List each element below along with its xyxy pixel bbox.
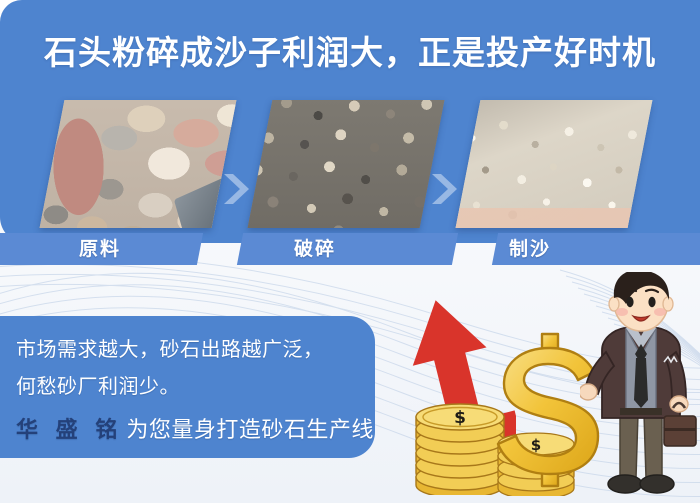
raw-material-photo <box>40 100 237 228</box>
copy-line-1: 市场需求越大，砂石出路越广泛， <box>16 333 324 362</box>
promo-banner: 石头粉碎成沙子利润大，正是投产好时机 原料 破碎 制沙 <box>0 0 700 503</box>
crushing-photo <box>248 100 445 228</box>
page-title: 石头粉碎成沙子利润大，正是投产好时机 <box>0 26 700 74</box>
process-image-raw-material <box>40 100 237 228</box>
brand-tagline-line: 华 盛 铭为您量身打造砂石生产线 <box>16 412 374 444</box>
svg-text:$: $ <box>454 408 466 428</box>
step-label-crushing: 破碎 <box>255 234 375 266</box>
sand-making-photo <box>456 100 653 228</box>
copy-line-2: 何愁砂厂利润少。 <box>16 370 180 399</box>
step-label-raw-material: 原料 <box>40 234 160 266</box>
brand-name: 华 盛 铭 <box>16 418 122 443</box>
step-label-sand-making: 制沙 <box>470 234 590 266</box>
hand-shape <box>456 208 653 228</box>
chevron-right-icon <box>430 172 460 206</box>
chevron-right-icon <box>222 172 252 206</box>
process-image-crushing <box>248 100 445 228</box>
process-image-sand-making <box>456 100 653 228</box>
businessman-with-briefcase-icon <box>580 272 700 503</box>
tagline-text: 为您量身打造砂石生产线 <box>126 418 374 443</box>
